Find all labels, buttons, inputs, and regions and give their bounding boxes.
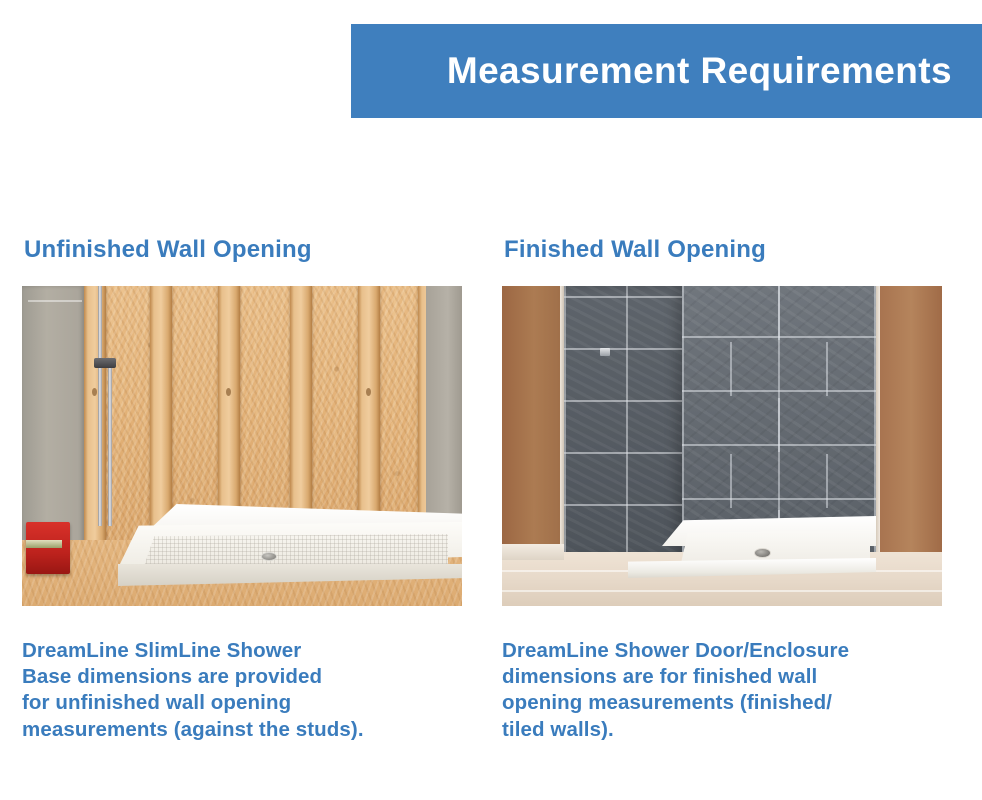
floor-tile-joint: [502, 590, 942, 592]
section-heading-unfinished: Unfinished Wall Opening: [24, 236, 464, 264]
wall-stud: [84, 286, 106, 554]
red-toolbox: [26, 522, 70, 574]
column-finished: Finished Wall Opening Dr: [502, 236, 944, 743]
header-banner: Measurement Requirements: [351, 24, 982, 118]
tile-grout-joint: [826, 454, 828, 508]
tile-grout-joint: [826, 342, 828, 396]
tile-grout-joint: [730, 342, 732, 396]
baseboard-trim: [502, 544, 564, 560]
tan-painted-left-wall: [502, 286, 560, 554]
page-title: Measurement Requirements: [447, 50, 952, 92]
tile-grout-joint: [778, 286, 780, 340]
section-heading-finished: Finished Wall Opening: [504, 236, 944, 264]
chrome-supply-pipe: [98, 286, 102, 526]
unfinished-wall-opening-photo: [22, 286, 462, 606]
tile-grout-joint: [730, 454, 732, 508]
caption-unfinished: DreamLine SlimLine Shower Base dimension…: [22, 638, 464, 743]
tan-painted-right-wall: [880, 286, 942, 558]
tile-grout-joint: [778, 398, 780, 452]
pipe-clamp: [94, 358, 116, 368]
shower-drain: [261, 552, 277, 561]
caption-finished: DreamLine Shower Door/Enclosure dimensio…: [502, 638, 944, 743]
finished-wall-opening-photo: [502, 286, 942, 606]
slate-tile-side-wall: [564, 286, 682, 558]
wall-fixture: [600, 348, 610, 356]
column-unfinished: Unfinished Wall Opening DreamLine SlimLi…: [22, 236, 464, 743]
chrome-supply-pipe: [108, 364, 112, 526]
page-root: Measurement Requirements Unfinished Wall…: [0, 0, 982, 800]
shower-drain: [754, 548, 771, 558]
